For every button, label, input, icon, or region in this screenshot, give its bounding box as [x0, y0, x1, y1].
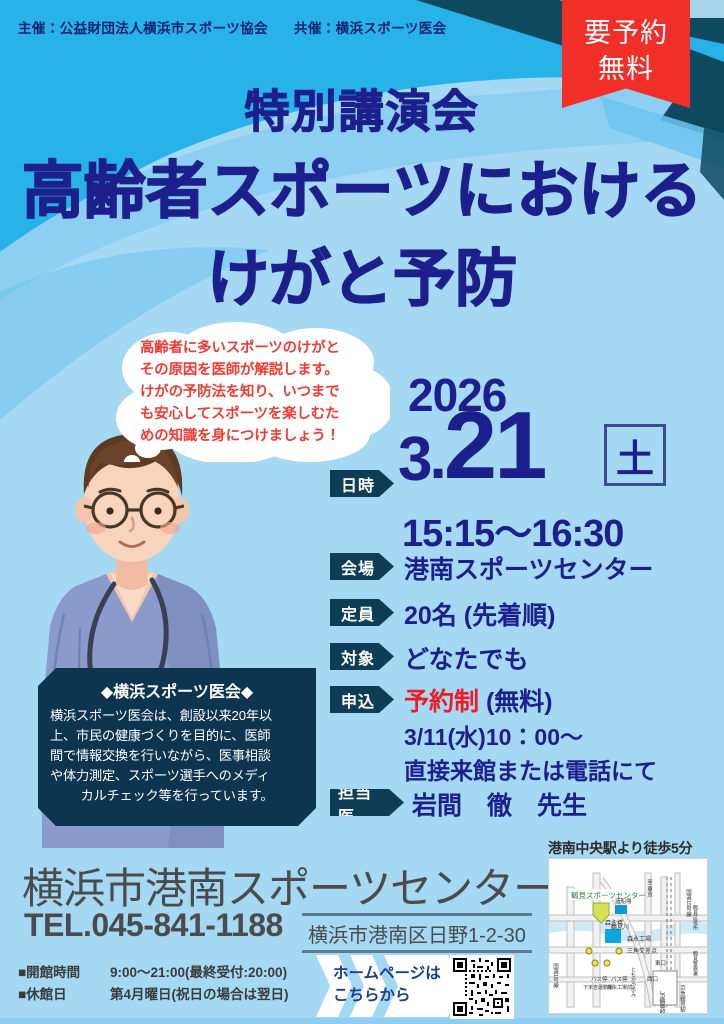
facility-hours-block: ■開館時間9:00〜21:00(最終受付:20:00) ■休館日第4月曜日(祝日… [18, 962, 289, 1006]
map-label-bus-stop-2: バス停 [611, 975, 628, 983]
map-caption: 港南中央駅より徒歩5分 [548, 838, 692, 858]
bubble-line-4: も安心してスポーツを楽しむた [140, 404, 384, 426]
application-fee: (無料) [479, 688, 553, 716]
association-line-1: 横浜スポーツ医会は、創設以来20年以 [50, 706, 304, 726]
audience-value: どなたでも [404, 640, 529, 676]
tag-application: 申込 [330, 686, 394, 713]
map-label-road-1: 国道1号線 [552, 963, 559, 990]
speech-bubble-text: 高齢者に多いスポーツのけがと その原因を医師が解説します。 けがの予防法を知り、… [140, 338, 384, 447]
application-line-1: 予約制 (無料) [404, 682, 553, 718]
map-label-jr-station: JR鶴見駅 [658, 991, 665, 1014]
facility-telephone: TEL.045-841-1188 [24, 907, 283, 944]
ribbon-line-2: 無料 [562, 52, 690, 88]
tag-venue: 会場 [330, 553, 394, 580]
map-label-bus-stop-2-name: 森永工場前 [607, 984, 632, 991]
map-label-walkway: ともかの歩み [630, 967, 636, 998]
association-line-4: や体力測定、スポーツ選手へのメディ [50, 766, 304, 786]
doctor-name-value: 岩間 徹 先生 [412, 786, 587, 822]
map-label-keikyu-station: 京急鶴見駅 [679, 984, 686, 1014]
map-label-center: 鶴見スポーツセンター [571, 890, 646, 900]
closed-days-label: ■休館日 [18, 984, 110, 1006]
bubble-line-5: めの知識を身につけましょう！ [140, 426, 384, 448]
association-description: 横浜スポーツ医会は、創設以来20年以 上、市民の健康づくりを目的に、医師 間で情… [50, 706, 304, 806]
tag-capacity-label: 定員 [341, 601, 375, 625]
association-line-5: カルチェック等を行っています。 [50, 786, 304, 806]
map-label-crossing: 三角交差点 [627, 947, 657, 955]
map-label-east-exit: 東口 [655, 959, 666, 967]
map-label-police: 鶴見警察署 [692, 950, 698, 977]
tag-doctor: 担当医 [330, 789, 404, 816]
venue-value: 港南スポーツセンター [404, 550, 654, 586]
map-label-factory: 森永工場 [627, 935, 651, 943]
tag-capacity: 定員 [330, 599, 394, 626]
tag-audience-label: 対象 [341, 645, 375, 669]
closed-days-row: ■休館日第4月曜日(祝日の場合は翌日) [18, 984, 289, 1006]
organizer-line: 主催：公益財団法人横浜市スポーツ協会共催：横浜スポーツ医会 [18, 17, 447, 37]
poster-title-line-2: けがと予防 [0, 228, 724, 318]
tag-datetime: 日時 [330, 470, 394, 497]
bubble-line-1: 高齢者に多いスポーツのけがと [140, 338, 384, 360]
map-label-river: 鶴見川 [611, 923, 629, 931]
map-label-ward-office: 鶴見区役所 [692, 904, 698, 931]
map-label-shipyard: 造船場 [615, 897, 632, 905]
capacity-value: 20名 (先着順) [404, 596, 555, 632]
association-line-2: 上、市民の健康づくりを目的に、医師 [50, 726, 304, 746]
opening-hours-value: 9:00〜21:00(最終受付:20:00) [110, 965, 287, 980]
tag-venue-label: 会場 [341, 555, 375, 579]
application-line-3: 直接来館または電話にて [404, 752, 657, 786]
tag-application-label: 申込 [341, 688, 375, 712]
event-day: 21 [444, 392, 545, 499]
date-separator: . [429, 423, 443, 492]
organizer-text: 主催：公益財団法人横浜市スポーツ協会 [18, 21, 268, 36]
bubble-line-2: その原因を医師が解説します。 [140, 360, 384, 382]
bubble-line-3: けがの予防法を知り、いつまで [140, 382, 384, 404]
poster-title-line-1: 高齢者スポーツにおける [0, 140, 724, 230]
event-time: 15:15〜16:30 [402, 502, 623, 557]
association-info-box: ◆横浜スポーツ医会◆ 横浜スポーツ医会は、創設以来20年以 上、市民の健康づくり… [38, 668, 316, 826]
homepage-line-2: こちらから [333, 985, 441, 1007]
event-day-of-week: 土 [604, 424, 666, 486]
location-map[interactable]: 鶴見スポーツセンター 森永橋 鶴見川 森永工場 造船場 三角交差点 バス停 下末… [548, 858, 708, 1014]
event-poster: 主催：公益財団法人横浜市スポーツ協会共催：横浜スポーツ医会 要予約 無料 特別講… [0, 0, 724, 1024]
tag-audience: 対象 [330, 643, 394, 670]
association-line-3: 間で情報交換を行いながら、医事相談 [50, 746, 304, 766]
map-label-road-15: 国道15号線 [685, 889, 692, 919]
qr-code[interactable] [450, 955, 514, 1019]
tag-datetime-label: 日時 [341, 472, 375, 496]
closed-days-value: 第4月曜日(祝日の場合は翌日) [110, 987, 289, 1002]
map-label-to-tokyo: 至 東京 [646, 879, 653, 898]
association-title: ◆横浜スポーツ医会◆ [50, 678, 304, 702]
event-month-day: 3.21 [398, 398, 545, 494]
facility-address: 横浜市港南区日野1-2-30 [302, 913, 532, 953]
opening-hours-label: ■開館時間 [18, 962, 110, 984]
co-organizer-text: 共催：横浜スポーツ医会 [294, 21, 447, 36]
tag-doctor-label: 担当医 [338, 779, 386, 827]
map-label-west-exit: 西口 [647, 976, 658, 983]
ribbon-line-1: 要予約 [562, 16, 690, 52]
map-label-bus-stop-1: バス停 [591, 975, 608, 983]
application-line-2: 3/11(水)10：00〜 [404, 718, 583, 752]
application-reservation-required: 予約制 [404, 688, 479, 716]
event-month: 3 [398, 425, 429, 494]
homepage-label[interactable]: ホームページは こちらから [333, 963, 441, 1008]
homepage-line-1: ホームページは [333, 963, 441, 985]
opening-hours-row: ■開館時間9:00〜21:00(最終受付:20:00) [18, 962, 289, 984]
